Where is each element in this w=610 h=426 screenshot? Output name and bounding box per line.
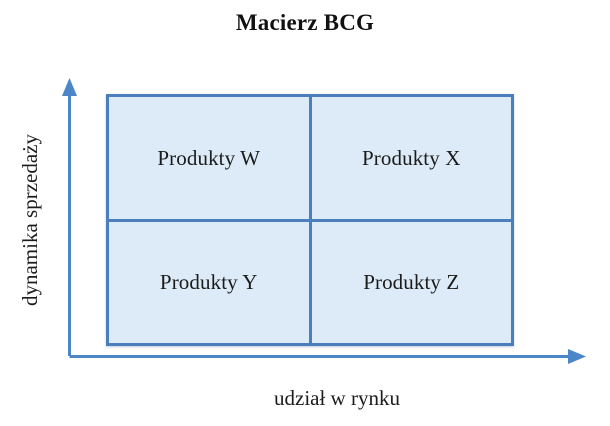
matrix-cell-label: Produkty W [157, 145, 260, 171]
matrix-cell-top-right: Produkty X [312, 97, 512, 219]
x-axis [70, 349, 587, 364]
matrix-cell-label: Produkty Y [160, 269, 258, 295]
matrix-cell-top-left: Produkty W [109, 97, 309, 219]
matrix-cell-bottom-left: Produkty Y [109, 222, 309, 344]
y-axis-label: dynamika sprzedaży [17, 85, 43, 355]
matrix-grid: Produkty W Produkty X Produkty Y Produkt… [106, 94, 514, 346]
bcg-matrix-diagram: Macierz BCG Produkty W Produkty X Produk… [0, 0, 610, 426]
arrow-up-icon [62, 78, 77, 96]
matrix-cell-label: Produkty X [362, 145, 460, 171]
x-axis-label: udział w rynku [69, 385, 605, 411]
matrix-cell-bottom-right: Produkty Z [312, 222, 512, 344]
y-axis [62, 78, 77, 356]
page-title: Macierz BCG [0, 9, 610, 37]
matrix-cell-label: Produkty Z [363, 269, 459, 295]
arrow-right-icon [568, 349, 586, 364]
